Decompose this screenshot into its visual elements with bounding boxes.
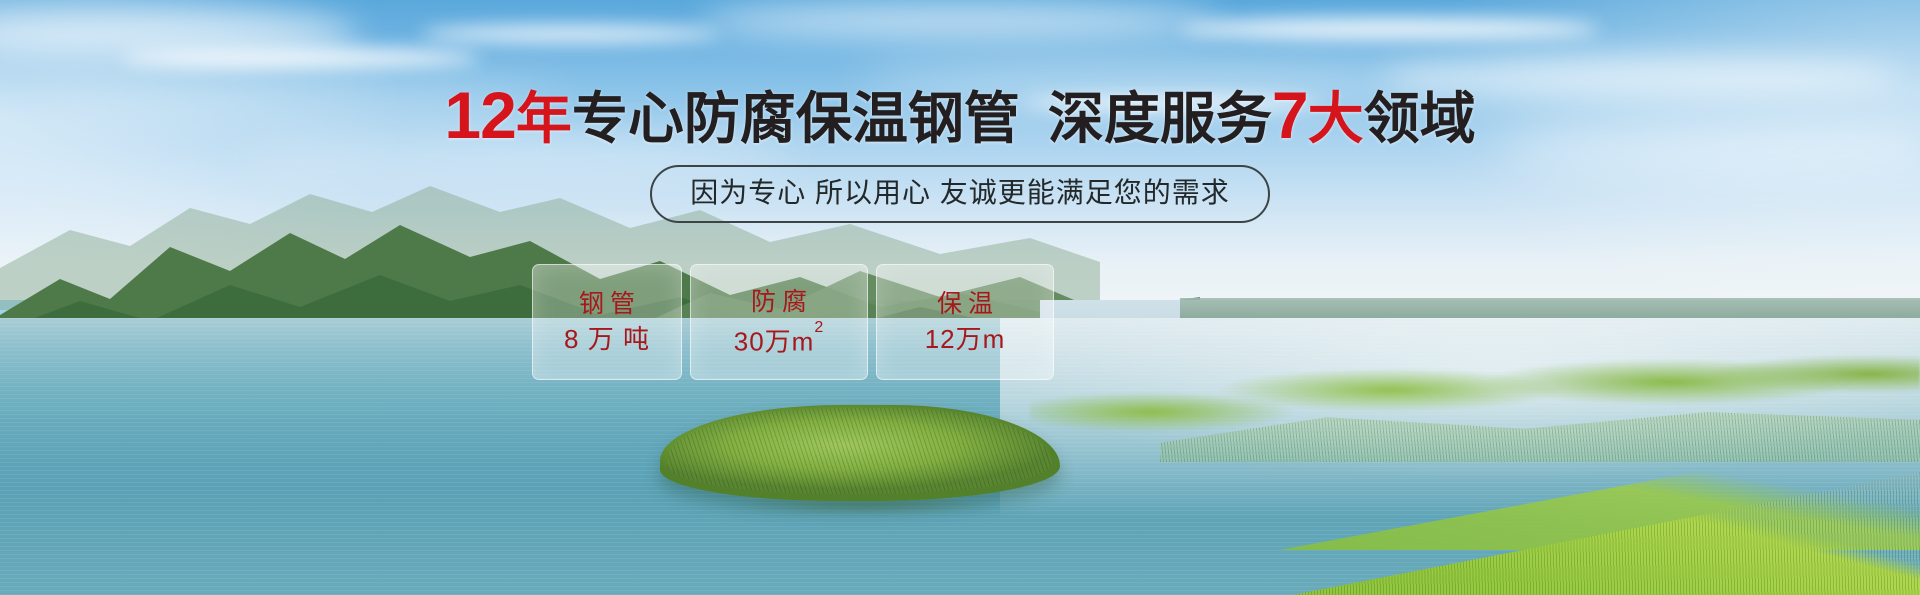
stat-card-value-superscript: 2 — [814, 319, 824, 336]
headline-fields-unit: 大 — [1308, 87, 1364, 150]
stat-card-label: 钢管 — [573, 290, 641, 318]
stat-card-label: 防腐 — [745, 288, 813, 316]
banner-headline: 12年专心防腐保温钢管深度服务7大领域 — [0, 84, 1920, 150]
grass-island-texture — [668, 408, 1052, 494]
stat-card-value: 8 万 吨 — [564, 324, 650, 354]
banner-subtitle-pill: 因为专心 所以用心 友诚更能满足您的需求 — [650, 165, 1270, 223]
stat-card-anticorrosion[interactable]: 防腐 30万m2 — [690, 264, 868, 380]
stat-card-value-text: 30万m — [734, 326, 815, 356]
stat-card-value-text: 8 万 吨 — [564, 324, 650, 354]
stat-card-insulation[interactable]: 保温 12万m — [876, 264, 1054, 380]
headline-service-text: 深度服务 — [1048, 87, 1272, 150]
hero-banner: 12年专心防腐保温钢管深度服务7大领域 因为专心 所以用心 友诚更能满足您的需求… — [0, 0, 1920, 595]
stat-card-value: 12万m — [925, 324, 1006, 354]
banner-subtitle-wrap: 因为专心 所以用心 友诚更能满足您的需求 — [0, 165, 1920, 223]
stat-card-steel-pipe[interactable]: 钢管 8 万 吨 — [532, 264, 682, 380]
headline-fields-number: 7 — [1272, 78, 1308, 152]
cloud-4 — [420, 26, 720, 42]
stat-card-group: 钢管 8 万 吨 防腐 30万m2 保温 12万m — [532, 264, 1054, 380]
stat-card-value-text: 12万m — [925, 324, 1006, 354]
headline-years-number: 12 — [444, 78, 515, 152]
headline-fields-text: 领域 — [1364, 87, 1476, 150]
cloud-2 — [120, 48, 480, 68]
cloud-5 — [700, 4, 1220, 38]
stat-card-value: 30万m2 — [734, 322, 825, 357]
cloud-7 — [1180, 18, 1600, 40]
stat-card-label: 保温 — [931, 290, 999, 318]
headline-main-text: 专心防腐保温钢管 — [572, 87, 1020, 150]
headline-years-unit: 年 — [516, 87, 572, 150]
